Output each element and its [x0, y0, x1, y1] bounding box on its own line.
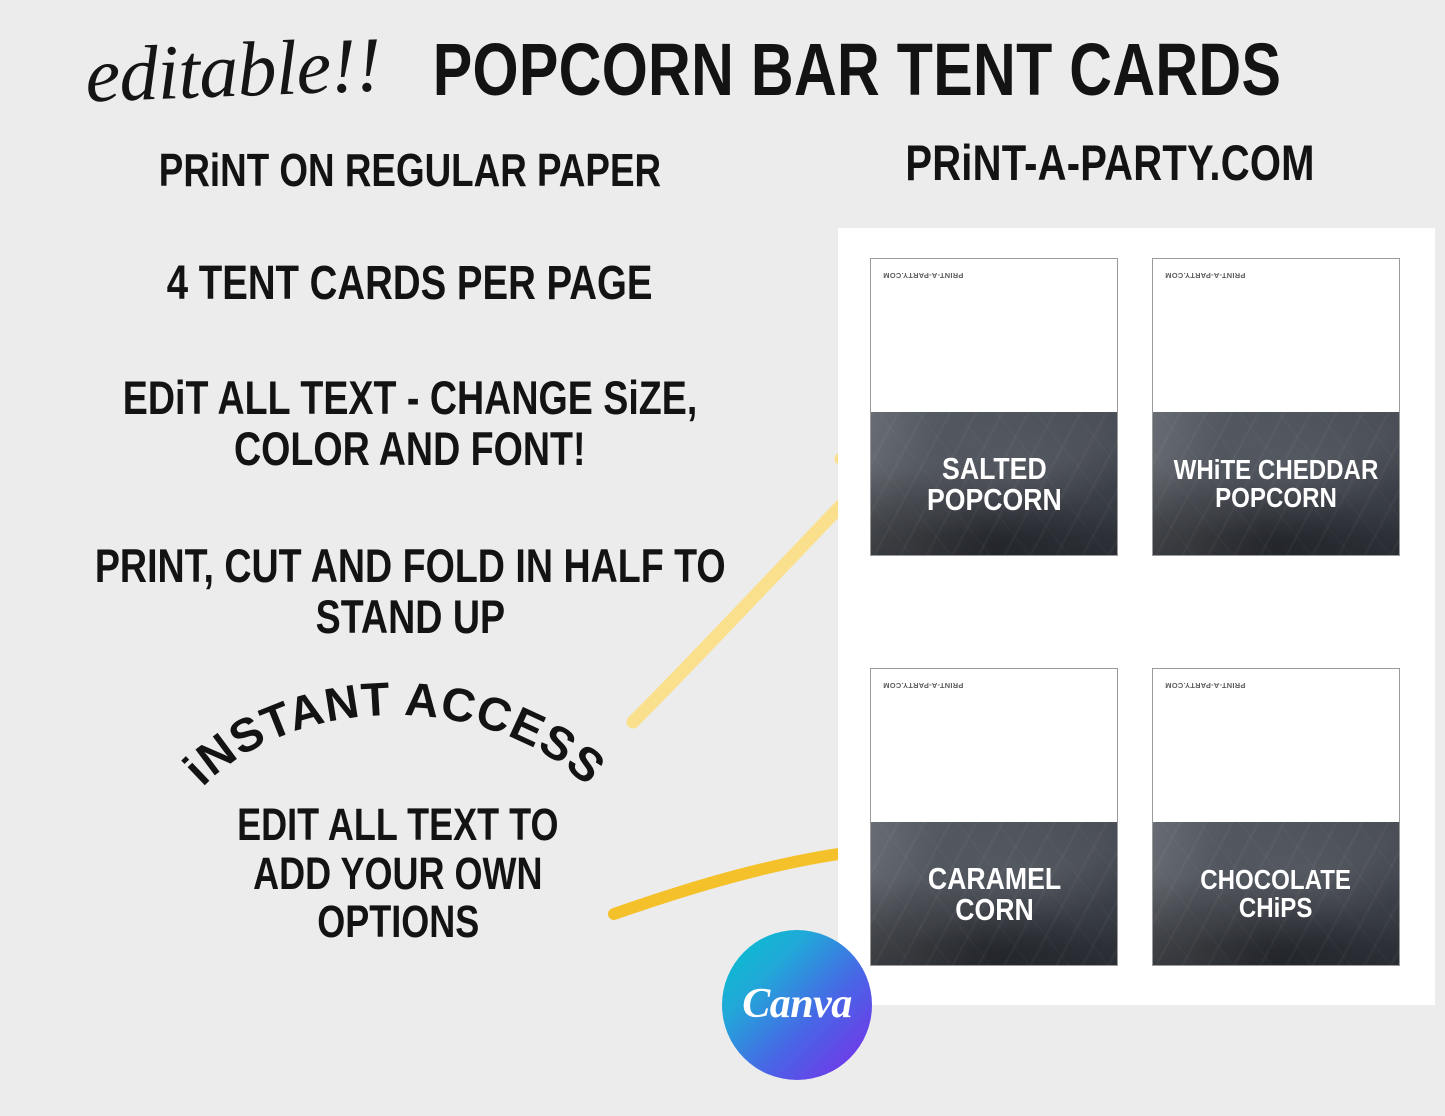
- feature-line: ADD YOUR OWN: [253, 850, 542, 899]
- arched-instant-access-text: iNSTANT ACCESS: [170, 684, 620, 814]
- feature-print-on-regular-paper: PRiNT ON REGULAR PAPER: [40, 140, 780, 202]
- card-brand-stamp: PRINT-A-PARTY.COM: [883, 265, 1043, 279]
- tent-card-salted-popcorn: PRINT-A-PARTY.COM SALTED POPCORN: [870, 258, 1118, 556]
- feature-add-your-own-options: EDIT ALL TEXT TO ADD YOUR OWN OPTIONS: [178, 800, 618, 948]
- arched-text-svg: iNSTANT ACCESS: [170, 684, 620, 814]
- card-label: CHOCOLATE CHiPS: [1182, 866, 1369, 922]
- card-label: SALTED POPCORN: [910, 453, 1079, 515]
- tent-card-chocolate-chips: PRINT-A-PARTY.COM CHOCOLATE CHiPS: [1152, 668, 1400, 966]
- card-label: CARAMEL CORN: [911, 863, 1078, 925]
- editable-badge-text: editable!!: [76, 18, 389, 122]
- printed-page-preview: PRINT-A-PARTY.COM SALTED POPCORN PRINT-A…: [838, 228, 1435, 1005]
- feature-line: OPTIONS: [317, 898, 479, 947]
- card-chalkboard-panel: CARAMEL CORN: [871, 822, 1117, 965]
- arched-text-label: iNSTANT ACCESS: [173, 672, 616, 795]
- feature-cards-per-page: 4 TENT CARDS PER PAGE: [40, 252, 780, 316]
- canva-wordmark: Canva: [742, 980, 852, 1028]
- card-chalkboard-panel: SALTED POPCORN: [871, 412, 1117, 555]
- card-brand-stamp: PRINT-A-PARTY.COM: [1165, 675, 1325, 689]
- canva-logo-badge: Canva: [722, 930, 872, 1080]
- card-brand-stamp: PRINT-A-PARTY.COM: [883, 675, 1043, 689]
- card-label: WHiTE CHEDDAR POPCORN: [1153, 456, 1399, 512]
- feature-line: EDiT ALL TEXT - CHANGE SiZE,: [123, 373, 697, 424]
- tent-card-white-cheddar-popcorn: PRINT-A-PARTY.COM WHiTE CHEDDAR POPCORN: [1152, 258, 1400, 556]
- tent-card-caramel-corn: PRINT-A-PARTY.COM CARAMEL CORN: [870, 668, 1118, 966]
- feature-line: STAND UP: [315, 592, 504, 643]
- card-chalkboard-panel: WHiTE CHEDDAR POPCORN: [1153, 412, 1399, 555]
- feature-line: COLOR AND FONT!: [234, 424, 586, 475]
- feature-line: 4 TENT CARDS PER PAGE: [167, 258, 653, 310]
- card-chalkboard-panel: CHOCOLATE CHiPS: [1153, 822, 1399, 965]
- feature-line: PRiNT ON REGULAR PAPER: [159, 146, 661, 196]
- card-brand-stamp: PRINT-A-PARTY.COM: [1165, 265, 1325, 279]
- feature-line: EDIT ALL TEXT TO: [237, 801, 558, 850]
- poster-canvas: editable!! POPCORN BAR TENT CARDS PRiNT-…: [0, 0, 1445, 1116]
- website-url: PRiNT-A-PARTY.COM: [894, 130, 1326, 196]
- page-title: POPCORN BAR TENT CARDS: [485, 22, 1229, 118]
